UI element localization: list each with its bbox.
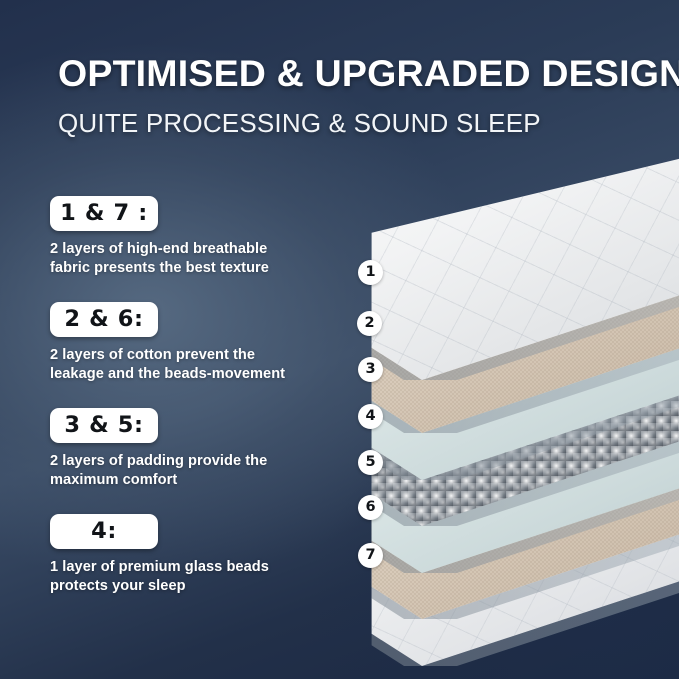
callout-description: 1 layer of premium glass beads protects … — [50, 558, 300, 597]
callout-label-text: 3 & 5: — [64, 414, 143, 437]
layer-badge-2: 2 — [357, 311, 382, 336]
callout-item: 3 & 5: 2 layers of padding provide the m… — [50, 408, 320, 491]
callout-item: 2 & 6: 2 layers of cotton prevent the le… — [50, 302, 320, 385]
layer-badge-number: 2 — [364, 316, 374, 331]
layer-badge-number: 7 — [365, 548, 375, 563]
layer-badge-5: 5 — [358, 450, 383, 475]
page-subtitle: QUITE PROCESSING & SOUND SLEEP — [58, 108, 541, 139]
page-title: OPTIMISED & UPGRADED DESIGN — [58, 52, 658, 94]
layer-badge-number: 4 — [365, 409, 375, 424]
layer-badge-3: 3 — [358, 357, 383, 382]
callout-item: 1 & 7 : 2 layers of high-end breathable … — [50, 196, 320, 279]
callout-label-text: 4: — [91, 520, 117, 543]
layer-badge-number: 5 — [365, 455, 375, 470]
layer-badge-4: 4 — [358, 404, 383, 429]
layer-badge-7: 7 — [358, 543, 383, 568]
callout-label-pill: 2 & 6: — [50, 302, 158, 337]
callout-description: 2 layers of cotton prevent the leakage a… — [50, 346, 300, 385]
layer-stack-illustration — [296, 150, 679, 670]
callout-label-pill: 3 & 5: — [50, 408, 158, 443]
layer-sheet-1 — [296, 150, 679, 380]
callout-label-pill: 1 & 7 : — [50, 196, 158, 231]
layer-badge-number: 1 — [365, 265, 375, 280]
product-infographic: OPTIMISED & UPGRADED DESIGN QUITE PROCES… — [0, 0, 679, 679]
callout-description: 2 layers of high-end breathable fabric p… — [50, 240, 300, 279]
layer-badge-6: 6 — [358, 495, 383, 520]
header: OPTIMISED & UPGRADED DESIGN QUITE PROCES… — [58, 52, 658, 94]
layer-badge-1: 1 — [358, 260, 383, 285]
layer-face — [296, 150, 679, 380]
callout-label-pill: 4: — [50, 514, 158, 549]
callout-item: 4: 1 layer of premium glass beads protec… — [50, 514, 320, 597]
callout-label-text: 1 & 7 : — [60, 202, 148, 225]
layer-badge-number: 6 — [365, 500, 375, 515]
callout-description: 2 layers of padding provide the maximum … — [50, 452, 300, 491]
layer-badge-number: 3 — [365, 362, 375, 377]
callout-label-text: 2 & 6: — [64, 308, 143, 331]
